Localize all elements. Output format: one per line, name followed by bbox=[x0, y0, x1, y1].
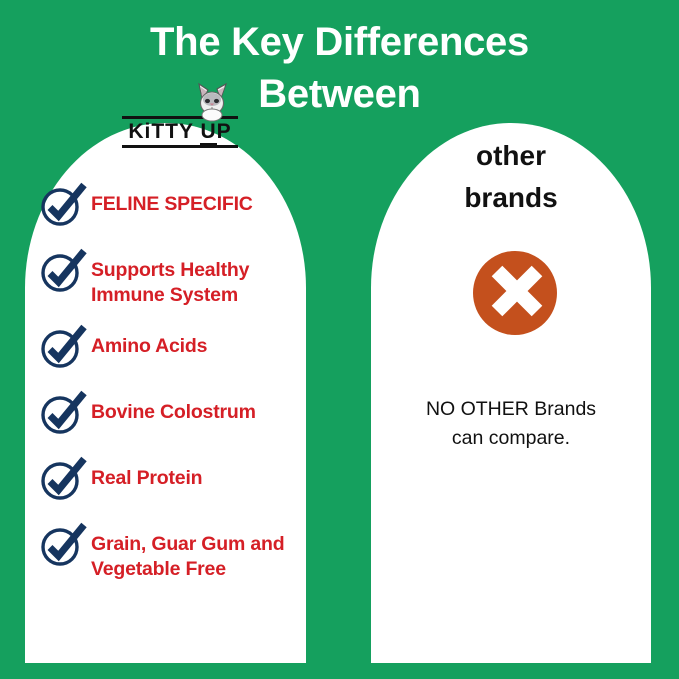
other-brands-heading-line-2: brands bbox=[371, 177, 651, 219]
no-other-caption-line-2: can compare. bbox=[377, 424, 645, 453]
logo-rule-bottom bbox=[122, 145, 238, 148]
list-item-label: Real Protein bbox=[91, 460, 202, 491]
check-circle-icon bbox=[37, 390, 89, 436]
logo-wordmark: KiTTY UP bbox=[120, 119, 240, 144]
check-circle-icon bbox=[37, 248, 89, 294]
cat-head-icon bbox=[196, 82, 230, 122]
check-circle-icon bbox=[37, 182, 89, 228]
logo-text-p: P bbox=[217, 120, 232, 143]
list-item-label: Amino Acids bbox=[91, 328, 207, 359]
check-circle-icon bbox=[37, 456, 89, 502]
infographic-canvas: The Key Differences Between KiTTY UP bbox=[0, 0, 679, 679]
list-item-label: FELINE SPECIFIC bbox=[91, 186, 253, 217]
list-item: Supports Healthy Immune System bbox=[37, 252, 312, 308]
list-item: Amino Acids bbox=[37, 328, 312, 374]
title-line-1: The Key Differences bbox=[0, 16, 679, 68]
check-circle-icon bbox=[37, 522, 89, 568]
list-item: FELINE SPECIFIC bbox=[37, 186, 312, 232]
list-item-label: Grain, Guar Gum and Vegetable Free bbox=[91, 526, 312, 582]
kitty-up-panel: KiTTY UP FELINE SPECIFIC Supports Health… bbox=[25, 123, 306, 663]
list-item: Grain, Guar Gum and Vegetable Free bbox=[37, 526, 312, 582]
no-other-caption-line-1: NO OTHER Brands bbox=[377, 395, 645, 424]
check-circle-icon bbox=[37, 324, 89, 370]
logo-text-kitty: KiTTY bbox=[128, 120, 200, 143]
list-item: Real Protein bbox=[37, 460, 312, 506]
no-other-caption: NO OTHER Brands can compare. bbox=[377, 395, 645, 453]
logo-text-u: U bbox=[200, 120, 216, 145]
page-title: The Key Differences Between bbox=[0, 16, 679, 120]
other-brands-heading: other brands bbox=[371, 135, 651, 219]
other-brands-heading-line-1: other bbox=[371, 135, 651, 177]
other-brands-panel: other brands NO OTHER Brands can compare… bbox=[371, 123, 651, 663]
benefits-checklist: FELINE SPECIFIC Supports Healthy Immune … bbox=[37, 186, 312, 602]
kitty-up-logo: KiTTY UP bbox=[120, 116, 240, 148]
list-item: Bovine Colostrum bbox=[37, 394, 312, 440]
x-circle-icon bbox=[471, 249, 559, 337]
title-line-2: Between bbox=[0, 68, 679, 120]
list-item-label: Supports Healthy Immune System bbox=[91, 252, 312, 308]
list-item-label: Bovine Colostrum bbox=[91, 394, 256, 425]
